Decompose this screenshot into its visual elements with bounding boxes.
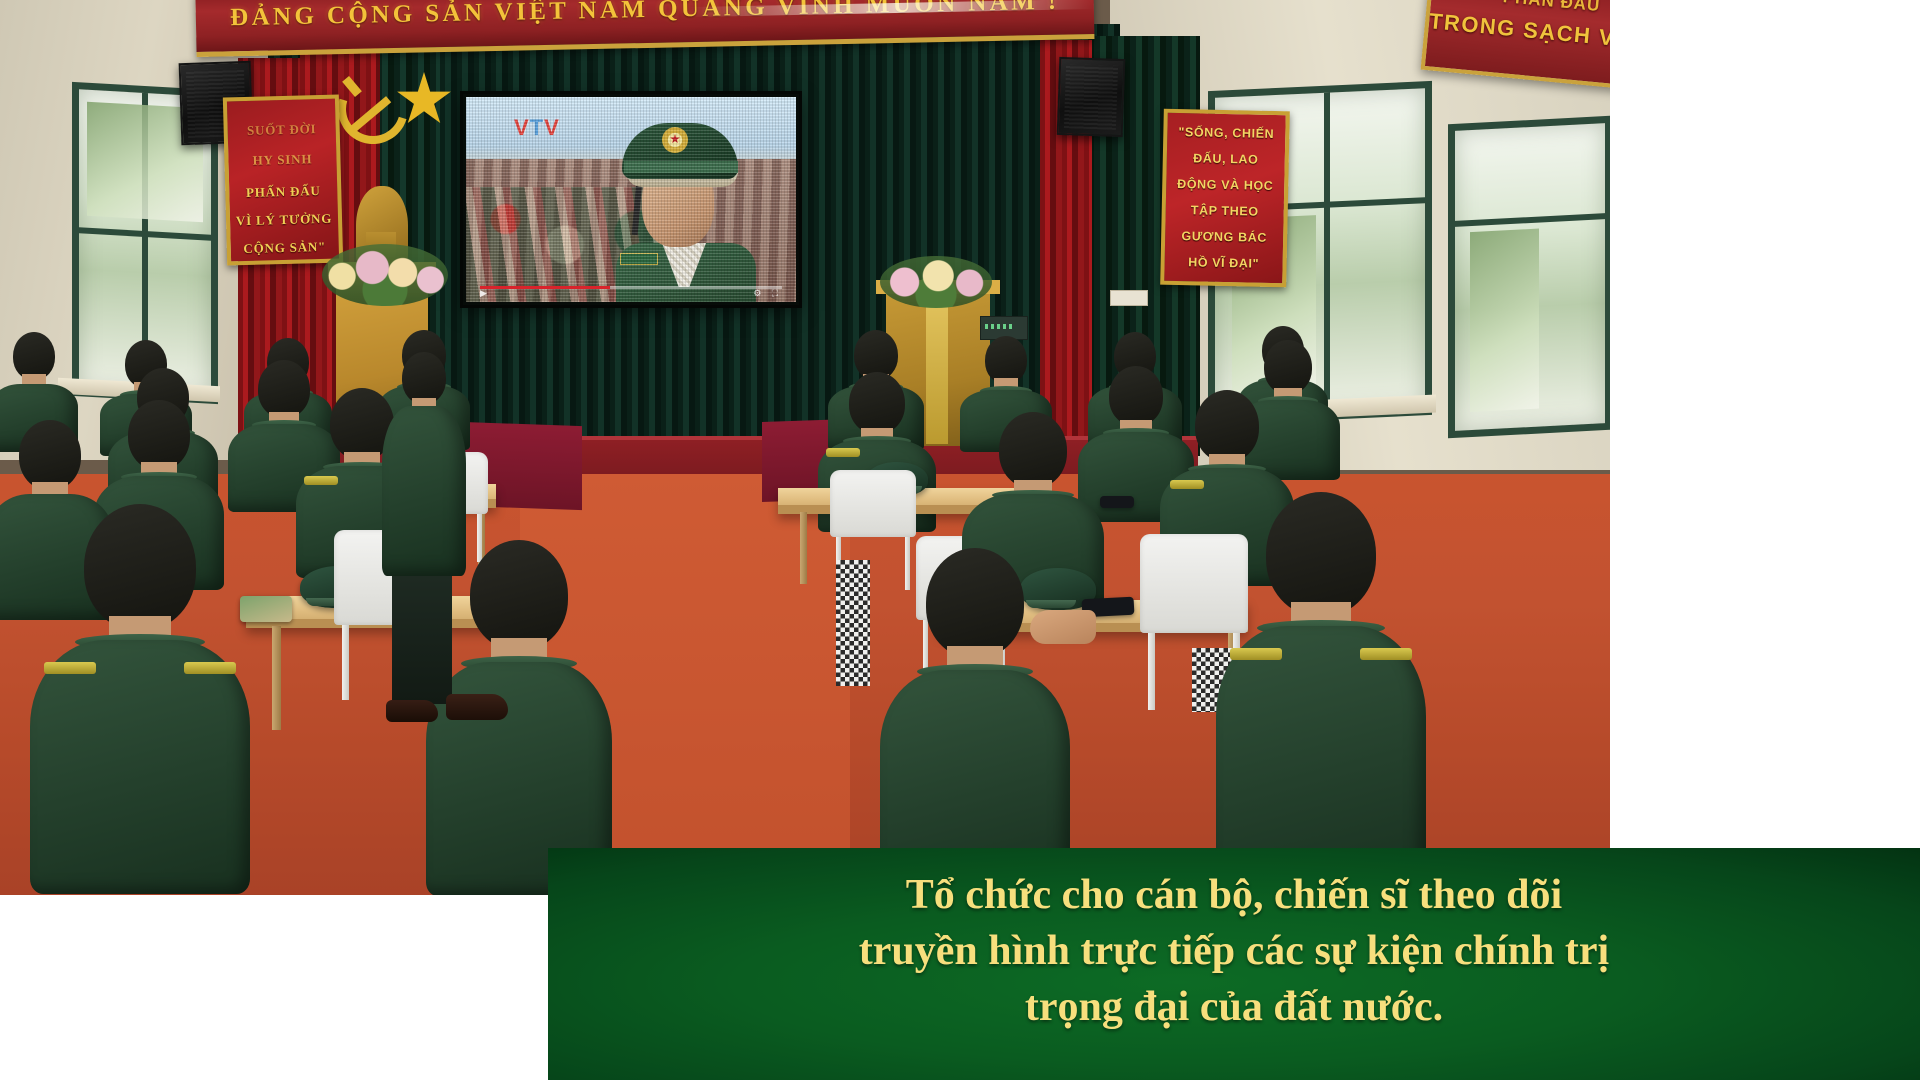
soldier-epaulette <box>184 662 236 674</box>
speaker-grill <box>1064 64 1118 130</box>
soldier-head <box>13 332 55 380</box>
video-play-icon[interactable]: ▶ <box>480 288 487 299</box>
soldier-epaulette <box>826 448 860 457</box>
broadcast-video: VTV ▶ ⚙ ⛶ <box>466 97 796 302</box>
soldier-head <box>926 548 1024 658</box>
soldier-epaulette <box>1230 648 1282 660</box>
sign-right-line0: "SỐNG, CHIẾN <box>1167 125 1285 141</box>
conference-hall-photo: ĐẢNG CỘNG SẢN VIỆT NAM QUANG VINH MUÔN N… <box>0 0 1610 895</box>
soldier-head <box>128 400 190 470</box>
hand-on-table <box>1030 610 1096 644</box>
banner-right-line2: TRONG SẠCH VỮNG MẠNH <box>1428 8 1610 56</box>
sign-left-line4: CỘNG SẢN" <box>231 239 339 258</box>
table-leg <box>800 512 807 584</box>
sign-right-line1: ĐẤU, LAO <box>1167 151 1285 167</box>
soldier-shoe <box>446 694 508 720</box>
sign-left-line0: SUỐT ĐỜI <box>228 121 336 140</box>
soldier-head <box>1195 390 1259 462</box>
window-foliage <box>1470 229 1539 413</box>
video-soldier-cap-band <box>624 161 738 173</box>
chair-leg <box>342 625 349 700</box>
vtv-channel-logo: VTV <box>514 115 560 141</box>
sign-left-line1: HY SINH <box>228 151 336 170</box>
soldier-standing-legs <box>392 576 452 704</box>
caption-line-1: Tổ chức cho cán bộ, chiến sĩ theo dõi <box>588 868 1880 924</box>
chair-checkered-fabric <box>836 560 870 686</box>
soldier-head <box>1264 340 1312 394</box>
table-leg <box>272 626 281 730</box>
soldier-head <box>1266 492 1376 616</box>
flower-arrangement-right <box>880 256 992 308</box>
video-progress-bar[interactable] <box>480 286 782 289</box>
soldier-head <box>1109 366 1163 426</box>
caption-banner: Tổ chức cho cán bộ, chiến sĩ theo dõi tr… <box>548 848 1920 1080</box>
soldier-head <box>19 420 81 490</box>
vtv-letter-v1: V <box>514 115 530 140</box>
window-right-far <box>1448 116 1610 439</box>
screenshot-root: ĐẢNG CỘNG SẢN VIỆT NAM QUANG VINH MUÔN N… <box>0 0 1920 1080</box>
video-progress-fill <box>480 286 610 289</box>
sign-right-line2: ĐỘNG VÀ HỌC <box>1166 177 1284 193</box>
wall-outlet <box>1110 290 1148 306</box>
soldier-head <box>84 504 196 630</box>
soldier-head <box>999 412 1067 488</box>
video-soldier-cap-badge <box>662 127 688 153</box>
vtv-letter-v2: V <box>544 115 560 140</box>
soldier-head <box>985 336 1027 384</box>
caption-text: Tổ chức cho cán bộ, chiến sĩ theo dõi tr… <box>588 868 1880 1036</box>
sign-left-line3: VÌ LÝ TƯỞNG <box>230 211 338 230</box>
soldier-head <box>849 372 905 434</box>
soldier-shoe <box>386 700 438 722</box>
loudspeaker-right <box>1057 57 1126 137</box>
vtv-letter-t: T <box>530 115 544 140</box>
soldier-seated-foreground <box>30 504 250 894</box>
soldier-seated-foreground <box>1216 492 1426 892</box>
soldier-epaulette <box>304 476 338 485</box>
communist-emblem <box>336 66 454 150</box>
slogan-sign-right: "SỐNG, CHIẾN ĐẤU, LAO ĐỘNG VÀ HỌC TẬP TH… <box>1160 109 1290 288</box>
slogan-sign-left: SUỐT ĐỜI HY SINH PHẤN ĐẤU VÌ LÝ TƯỞNG CỘ… <box>223 95 343 266</box>
sign-left-line2: PHẤN ĐẤU <box>229 183 337 202</box>
phone-on-table <box>1100 496 1134 508</box>
soldier-head <box>470 540 568 650</box>
window-mullion <box>1455 213 1605 227</box>
caption-line-3: trọng đại của đất nước. <box>588 980 1880 1036</box>
soldier-head <box>402 352 446 404</box>
soldier-epaulette <box>44 662 96 674</box>
led-display-screen: VTV ▶ ⚙ ⛶ <box>463 94 799 305</box>
sign-right-line4: GƯƠNG BÁC <box>1165 229 1283 245</box>
chair-back <box>830 470 916 537</box>
video-settings-fullscreen-icons[interactable]: ⚙ ⛶ <box>753 288 782 299</box>
chair-leg <box>1148 633 1155 710</box>
sign-right-line3: TẬP THEO <box>1166 203 1284 219</box>
flower-arrangement-left <box>322 244 448 306</box>
soldier-seated-foreground <box>880 548 1070 895</box>
caption-line-2: truyền hình trực tiếp các sự kiện chính … <box>588 924 1880 980</box>
soldier-torso <box>30 640 250 894</box>
sign-right-line5: HỒ VĨ ĐẠI" <box>1165 255 1283 271</box>
video-soldier-epaulette <box>620 253 658 265</box>
soldier-epaulette <box>1170 480 1204 489</box>
soldier-torso <box>382 406 466 576</box>
soldier-epaulette <box>1360 648 1412 660</box>
